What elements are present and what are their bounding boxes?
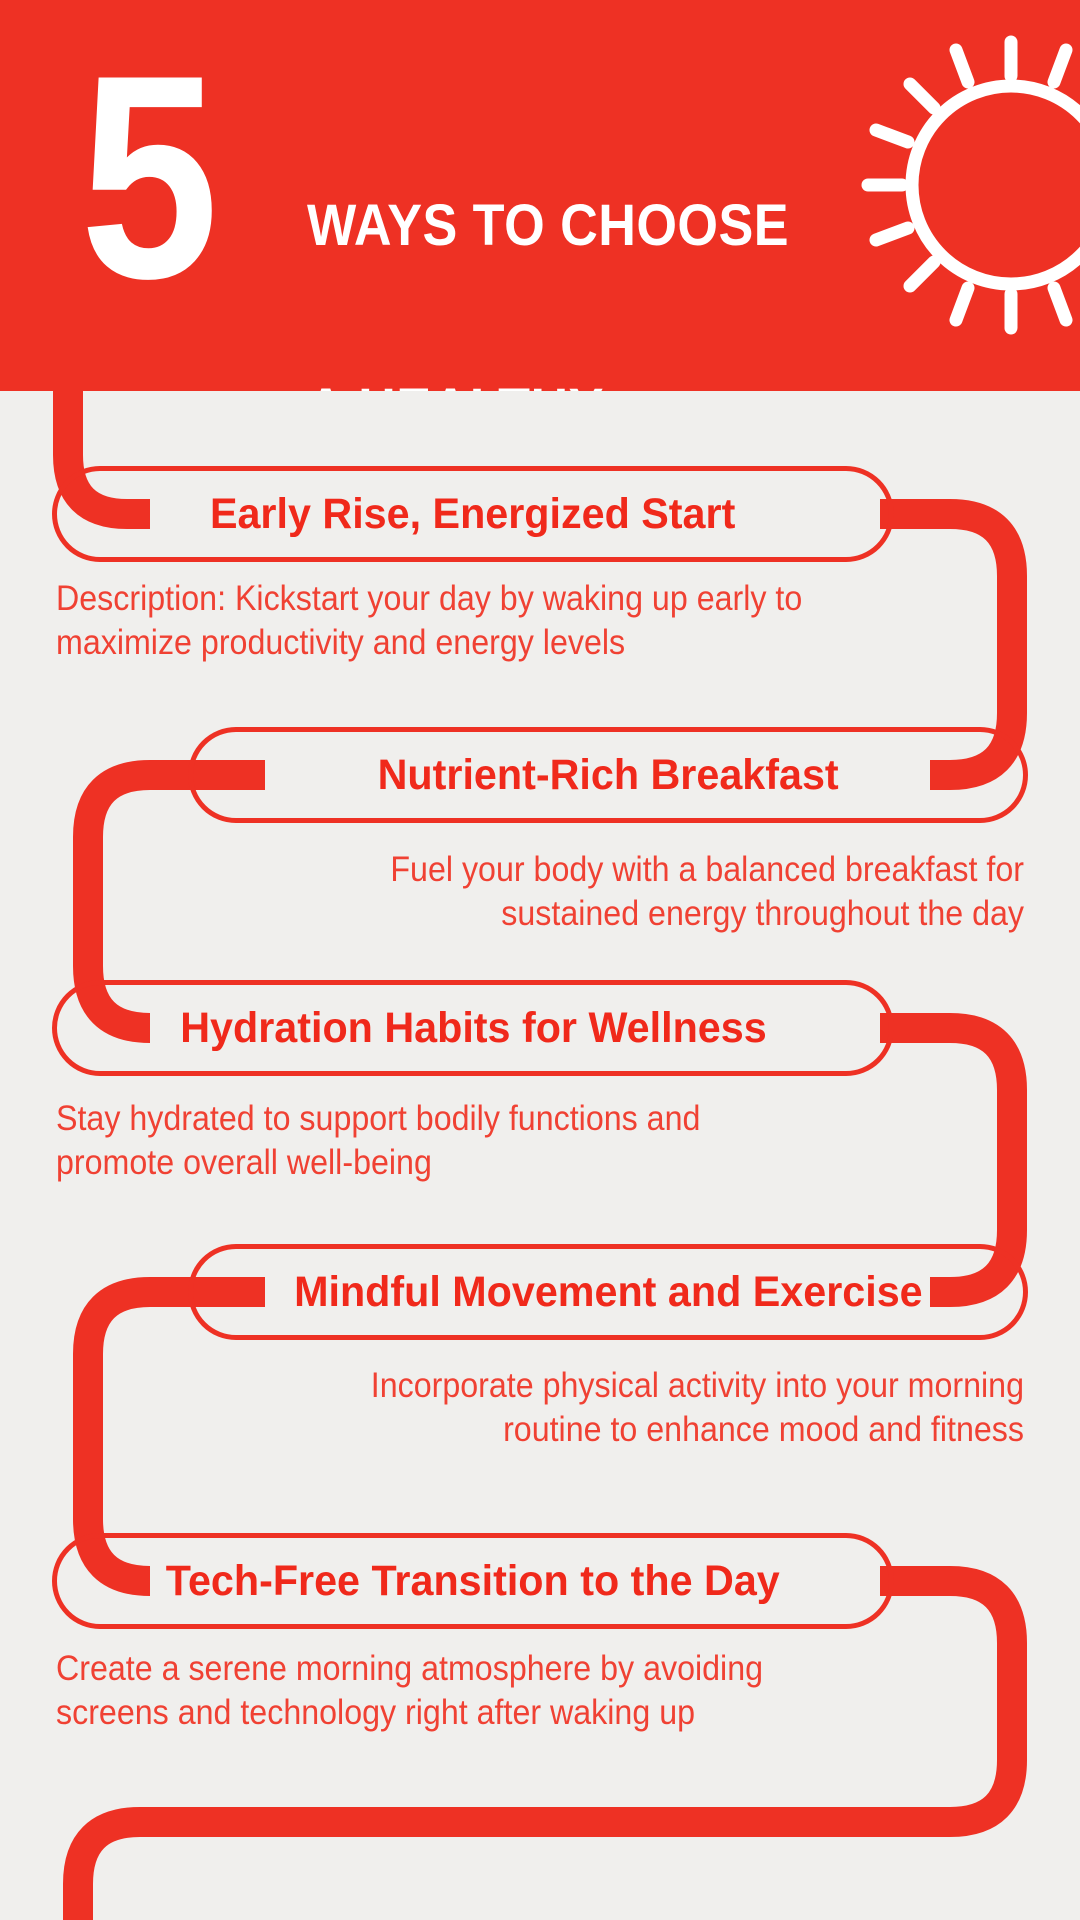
step-title: Early Rise, Energized Start: [210, 490, 735, 539]
step-title: Tech-Free Transition to the Day: [166, 1557, 780, 1606]
connector-5-to-bottom: [78, 1581, 1012, 1920]
step-title-pill[interactable]: Mindful Movement and Exercise: [188, 1244, 1028, 1340]
infographic-page: 5 WAYS TO CHOOSE A HEALTHY MORNING ROUTI…: [0, 0, 1080, 1920]
step-description: Stay hydrated to support bodily function…: [56, 1097, 783, 1185]
step-title-pill[interactable]: Nutrient-Rich Breakfast: [188, 727, 1028, 823]
step-description: Create a serene morning atmosphere by av…: [56, 1647, 792, 1735]
step-description: Description: Kickstart your day by wakin…: [56, 577, 810, 665]
step-title-pill[interactable]: Early Rise, Energized Start: [52, 466, 894, 562]
step-title: Hydration Habits for Wellness: [180, 1004, 766, 1053]
step-title-pill[interactable]: Hydration Habits for Wellness: [52, 980, 894, 1076]
step-description: Incorporate physical activity into your …: [325, 1364, 1024, 1452]
step-title: Nutrient-Rich Breakfast: [377, 751, 838, 800]
step-description: Fuel your body with a balanced breakfast…: [343, 848, 1024, 936]
sun-icon: [846, 20, 1080, 350]
step-title-pill[interactable]: Tech-Free Transition to the Day: [52, 1533, 894, 1629]
header-content: 5 WAYS TO CHOOSE A HEALTHY MORNING ROUTI…: [80, 56, 872, 391]
page-title-line-1: WAYS TO CHOOSE: [307, 195, 815, 256]
step-title: Mindful Movement and Exercise: [294, 1268, 923, 1317]
headline-number: 5: [80, 56, 210, 300]
header-banner: 5 WAYS TO CHOOSE A HEALTHY MORNING ROUTI…: [0, 0, 1080, 391]
page-title: WAYS TO CHOOSE A HEALTHY MORNING ROUTINE: [307, 72, 815, 391]
page-title-line-2: A HEALTHY: [307, 379, 815, 391]
